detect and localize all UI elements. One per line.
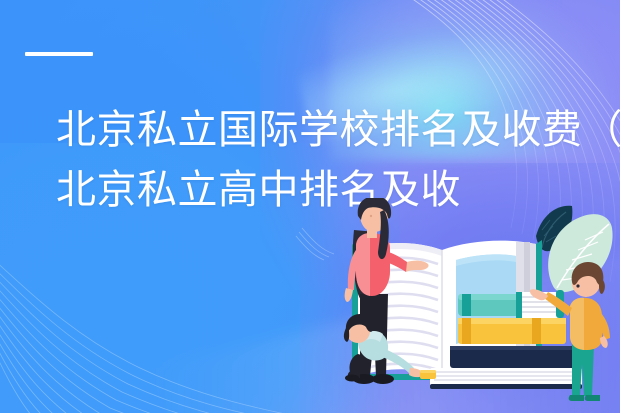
title-line-1: 北京私立国际学校排名及收费（ xyxy=(56,100,576,160)
reading-education-illustration xyxy=(310,198,620,413)
banner-image: 北京私立国际学校排名及收费（ 北京私立高中排名及收 xyxy=(0,0,620,413)
accent-dash xyxy=(25,52,93,56)
